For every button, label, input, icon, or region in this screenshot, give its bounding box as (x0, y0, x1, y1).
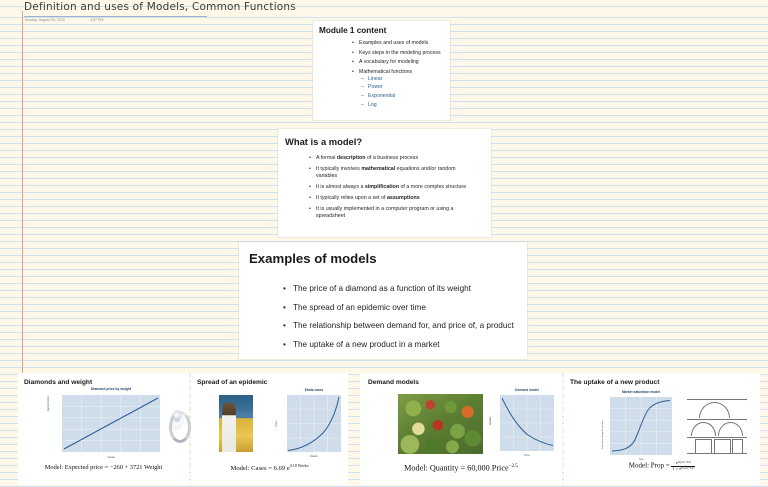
emphasis-text: mathematical (361, 166, 395, 172)
x-axis-label: Price (500, 454, 554, 457)
photo-figure-right (234, 410, 251, 452)
sub-list-item-label: Power (368, 84, 383, 90)
list-item: •The uptake of a new product in a market (293, 340, 518, 351)
chart-title: Market saturation model (610, 390, 672, 394)
list-item: •It typically involves mathematical equa… (316, 166, 476, 179)
chart-title: Demand model (500, 388, 554, 392)
bullet-icon: • (352, 59, 354, 65)
module-bullet-list: •Examples and uses of models •Keys steps… (359, 40, 441, 111)
emphasis-text: assumptions (387, 195, 420, 201)
panel-title: Spread of an epidemic (197, 379, 267, 386)
dash-icon: – (361, 76, 364, 82)
sub-list-item-label: Exponential (368, 93, 395, 99)
list-item: •Examples and uses of models (359, 40, 441, 46)
list-item: •It is almost always a simplification of… (316, 184, 476, 191)
examples-bullet-list: •The price of a diamond as a function of… (293, 284, 518, 358)
page-time: 4:57 PM (90, 18, 103, 22)
list-item: •It typically relies upon a set of assum… (316, 195, 476, 202)
formula-label: Model: Cases = (230, 465, 271, 472)
patent-drawing-image (684, 395, 750, 457)
dash-icon: – (361, 102, 364, 108)
dash-icon: – (361, 93, 364, 99)
list-item-label: It is almost always a simplification of … (316, 184, 466, 190)
chart-line-series (610, 397, 672, 455)
uptake-model-formula: Model: Prop = e¹⁽ʸᵉᵃʳ⁻¹⁵⁾ 1 + e¹⁽ʸᵉᵃʳ⁻¹⁵… (564, 461, 760, 471)
slide-title: Module 1 content (319, 26, 386, 35)
sub-list-item: –Linear (368, 76, 441, 82)
list-item: •A formal description of a business proc… (316, 155, 476, 162)
formula-body: −260 + 3721 Weight (110, 464, 163, 471)
page-date: Sunday, August 30, 2020 (25, 18, 65, 22)
list-item-label: Mathematical functions (359, 69, 412, 75)
chart-line-series (287, 395, 341, 452)
panel-title: Diamonds and weight (24, 379, 92, 386)
slide-examples-of-models[interactable]: Examples of models •The price of a diamo… (239, 242, 527, 359)
list-item-label: Examples and uses of models (359, 40, 428, 46)
list-item: •Mathematical functions –Linear –Power –… (359, 69, 441, 108)
bullet-icon: • (283, 340, 286, 351)
diamond-ring-photo (166, 401, 188, 439)
sub-list-item-label: Linear (368, 76, 382, 82)
epidemic-health-workers-photo (219, 395, 253, 452)
demand-model-chart: Demand model Price (500, 395, 554, 451)
chart-title: Ebola cases (287, 388, 341, 392)
what-is-a-model-bullet-list: •A formal description of a business proc… (316, 155, 476, 224)
list-item-label: It typically relies upon a set of assump… (316, 195, 420, 201)
list-item: •Keys steps in the modeling process (359, 50, 441, 56)
formula-exponent: 0.18 Weeks (290, 463, 309, 468)
list-item: •It is usually implemented in a computer… (316, 206, 476, 219)
sub-list-item-label: Log (368, 102, 377, 108)
list-item: •The relationship between demand for, an… (293, 321, 518, 332)
list-item: •The price of a diamond as a function of… (293, 284, 518, 295)
list-item-label: It typically involves mathematical equat… (316, 166, 456, 179)
vegetable-market-photo (398, 394, 483, 454)
bullet-icon: • (352, 50, 354, 56)
panel-title: Demand models (368, 379, 419, 386)
formula-label: Model: Expected price = (45, 464, 108, 471)
epidemic-model-formula: Model: Cases = 6.69 e0.18 Weeks (191, 463, 348, 472)
list-item: •A vocabulary for modeling (359, 59, 441, 65)
x-axis-label: Weeks (287, 455, 341, 458)
sub-list-item: –Power (368, 84, 441, 90)
module-sub-bullet-list: –Linear –Power –Exponential –Log (368, 76, 441, 108)
slide-module-1-content[interactable]: Module 1 content •Examples and uses of m… (313, 21, 450, 120)
list-item-label: A formal description of a business proce… (316, 155, 418, 161)
bullet-icon: • (283, 284, 286, 295)
panel-uptake-of-a-new-product[interactable]: The uptake of a new product Market satur… (564, 373, 760, 485)
emphasis-text: simplification (365, 184, 399, 190)
panel-spread-of-an-epidemic[interactable]: Spread of an epidemic Ebola cases Weeks … (191, 373, 348, 485)
y-axis-label: Proportion having the product (602, 420, 604, 449)
y-axis-label: Quantity (490, 416, 492, 425)
y-axis-label: Expected price (48, 396, 50, 411)
page-title[interactable]: Definition and uses of Models, Common Fu… (24, 1, 296, 13)
slide-title: Examples of models (249, 251, 377, 266)
sub-list-item: –Log (368, 102, 441, 108)
bullet-icon: • (309, 166, 311, 173)
chart-line-series (62, 395, 160, 452)
page-title-area[interactable]: Definition and uses of Models, Common Fu… (24, 1, 296, 13)
chart-line-series (500, 395, 554, 451)
diamond-model-formula: Model: Expected price = −260 + 3721 Weig… (18, 464, 189, 471)
bullet-icon: • (309, 184, 311, 191)
demand-model-formula: Model: Quantity = 60,000 Price−2.5 (360, 463, 562, 473)
list-item-label: It is usually implemented in a computer … (316, 206, 454, 219)
bullet-icon: • (352, 40, 354, 46)
bullet-icon: • (352, 69, 354, 75)
x-axis-label: Carats (62, 456, 160, 459)
list-item-label: The uptake of a new product in a market (293, 340, 440, 349)
slide-title: What is a model? (285, 136, 362, 147)
chart-title: Diamond price by weight (62, 387, 160, 391)
list-item-label: A vocabulary for modeling (359, 59, 419, 65)
sub-list-item: –Exponential (368, 93, 441, 99)
formula-body: 6.69 e (274, 465, 290, 472)
bullet-icon: • (309, 195, 311, 202)
formula-exponent: −2.5 (509, 463, 518, 469)
market-saturation-chart: Market saturation model Year (610, 397, 672, 455)
list-item-label: The relationship between demand for, and… (293, 321, 514, 330)
bullet-icon: • (309, 155, 311, 162)
bullet-icon: • (309, 206, 311, 213)
formula-body: 60,000 Price (467, 464, 508, 473)
ebola-cases-chart: Ebola cases Weeks (287, 395, 341, 452)
formula-fraction: e¹⁽ʸᵉᵃʳ⁻¹⁵⁾ 1 + e¹⁽ʸᵉᵃʳ⁻¹⁵⁾ (671, 461, 695, 471)
title-underline (24, 16, 207, 17)
list-item: •The spread of an epidemic over time (293, 303, 518, 314)
formula-label: Model: Prop = (629, 462, 670, 470)
list-item-label: The spread of an epidemic over time (293, 303, 426, 312)
panel-demand-models[interactable]: Demand models Demand model Price Quantit… (360, 373, 562, 485)
diamond-price-chart: Diamond price by weight Carats (62, 395, 160, 452)
panel-title: The uptake of a new product (570, 379, 659, 386)
bullet-icon: • (283, 303, 286, 314)
list-item-label: The price of a diamond as a function of … (293, 284, 471, 293)
bullet-icon: • (283, 321, 286, 332)
emphasis-text: description (337, 155, 366, 161)
ring-stone (174, 411, 180, 421)
slide-what-is-a-model[interactable]: What is a model? •A formal description o… (278, 129, 491, 237)
panel-diamonds-and-weight[interactable]: Diamonds and weight Diamond price by wei… (18, 373, 189, 485)
formula-denominator: 1 + e¹⁽ʸᵉᵃʳ⁻¹⁵⁾ (671, 467, 695, 472)
list-item-label: Keys steps in the modeling process (359, 50, 441, 56)
y-axis-label: Cases (276, 420, 278, 427)
formula-label: Model: Quantity = (404, 464, 465, 473)
dash-icon: – (361, 84, 364, 90)
